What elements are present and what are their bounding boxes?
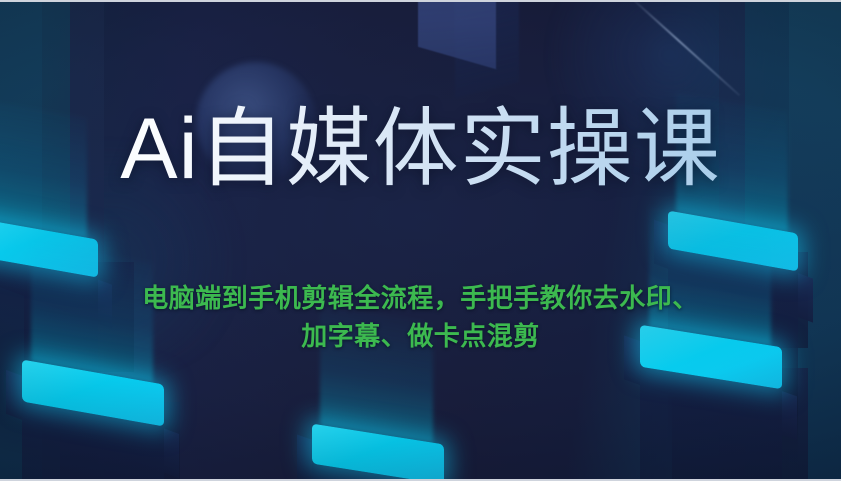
poster-title: Ai自媒体实操课 <box>0 104 841 194</box>
poster-subtitle-line-1: 电脑端到手机剪辑全流程，手把手教你去水印、 <box>71 280 771 318</box>
poster-subtitle: 电脑端到手机剪辑全流程，手把手教你去水印、 加字幕、做卡点混剪 <box>71 280 771 355</box>
poster-top-edge <box>0 0 841 2</box>
background-vignette <box>0 0 841 481</box>
course-poster: Ai自媒体实操课 电脑端到手机剪辑全流程，手把手教你去水印、 加字幕、做卡点混剪 <box>0 0 841 481</box>
poster-subtitle-line-2: 加字幕、做卡点混剪 <box>71 318 771 356</box>
